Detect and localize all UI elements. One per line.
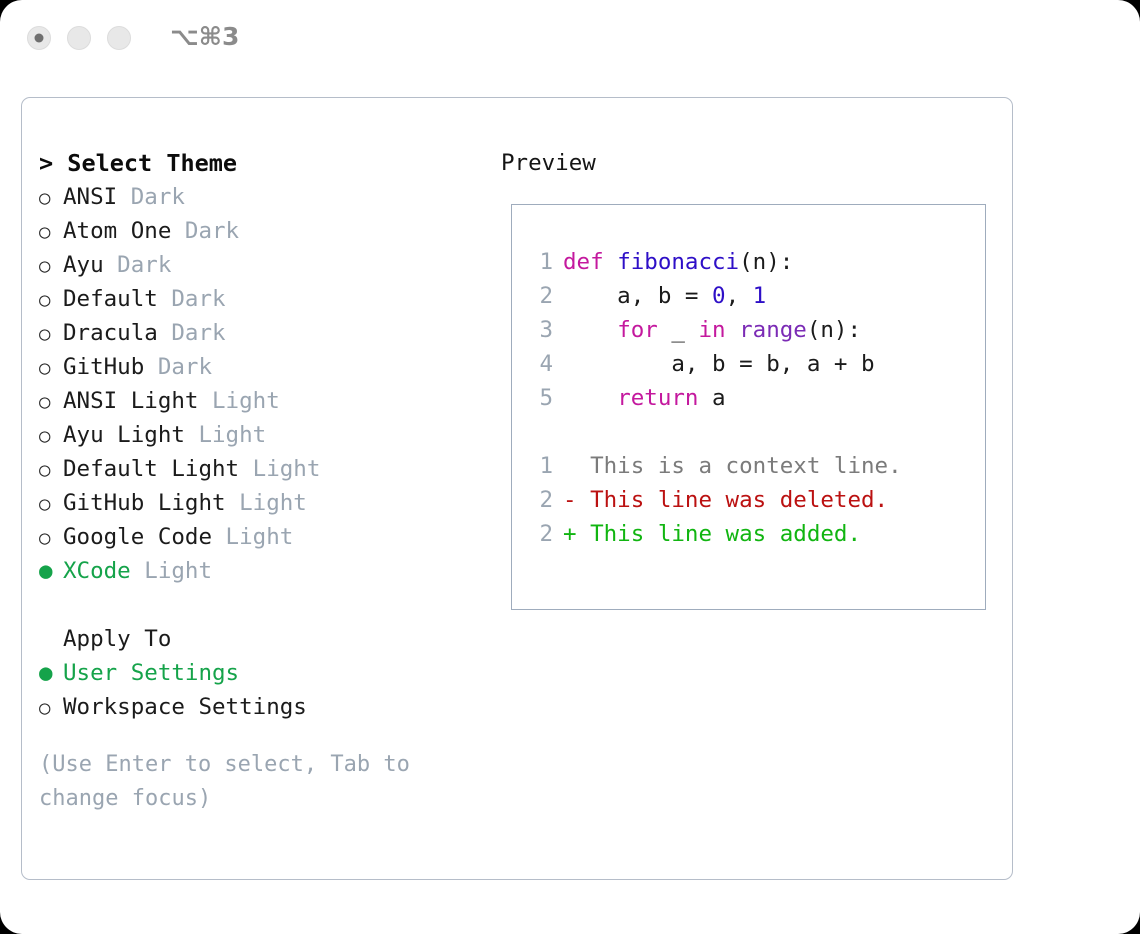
- code-token: a, b =: [563, 283, 712, 309]
- radio-unselected-icon[interactable]: ○: [39, 385, 63, 419]
- theme-name-label: Ayu Light: [63, 422, 185, 448]
- code-token: 1: [753, 283, 767, 309]
- apply-to-list: ●User Settings○Workspace Settings: [39, 656, 489, 724]
- theme-name-label: Default Light: [63, 456, 239, 482]
- radio-unselected-icon[interactable]: ○: [39, 283, 63, 317]
- theme-name-label: ANSI Light: [63, 388, 198, 414]
- radio-unselected-icon[interactable]: ○: [39, 317, 63, 351]
- line-number: 1: [523, 449, 553, 483]
- theme-name-label: Google Code: [63, 524, 212, 550]
- theme-option-row[interactable]: ○Default Light Light: [39, 452, 489, 486]
- theme-variant-badge: Dark: [171, 218, 239, 244]
- code-token: return: [617, 385, 698, 411]
- theme-variant-badge: Dark: [158, 286, 226, 312]
- code-token: [563, 385, 617, 411]
- line-number: 2: [523, 483, 553, 517]
- code-token: ,: [726, 283, 753, 309]
- code-line: 1def fibonacci(n):: [523, 245, 902, 279]
- code-token: (n):: [739, 249, 793, 275]
- apply-to-option-row[interactable]: ●User Settings: [39, 656, 489, 690]
- theme-selector-column: > Select Theme ○ANSI Dark○Atom One Dark○…: [39, 146, 489, 816]
- code-token: [726, 317, 740, 343]
- theme-variant-badge: Light: [239, 456, 320, 482]
- line-number: 5: [523, 381, 553, 415]
- apply-to-option-label: Workspace Settings: [63, 694, 307, 720]
- code-token: range: [739, 317, 807, 343]
- radio-unselected-icon[interactable]: ○: [39, 351, 63, 385]
- window-dot-icon[interactable]: [107, 26, 131, 50]
- preview-title: Preview: [501, 146, 1001, 180]
- code-token: (n):: [807, 317, 861, 343]
- theme-name-label: GitHub: [63, 354, 144, 380]
- code-blank-line: [523, 415, 902, 449]
- theme-option-row[interactable]: ○GitHub Light Light: [39, 486, 489, 520]
- code-line: 2 a, b = 0, 1: [523, 279, 902, 313]
- window-dot-active-icon[interactable]: [27, 26, 51, 50]
- radio-selected-icon[interactable]: ●: [39, 656, 63, 690]
- line-number: 1: [523, 245, 553, 279]
- line-number: 3: [523, 313, 553, 347]
- radio-unselected-icon[interactable]: ○: [39, 215, 63, 249]
- theme-variant-badge: Dark: [117, 184, 185, 210]
- keyboard-shortcut-label: ⌥⌘3: [170, 22, 239, 51]
- apply-to-header: ○Apply To: [39, 622, 489, 656]
- code-token: _: [658, 317, 699, 343]
- diff-line-text: This is a context line.: [563, 453, 902, 479]
- diff-line-text: - This line was deleted.: [563, 487, 888, 513]
- radio-unselected-icon[interactable]: ○: [39, 419, 63, 453]
- theme-name-label: Dracula: [63, 320, 158, 346]
- theme-variant-badge: Dark: [104, 252, 172, 278]
- code-token: for: [617, 317, 658, 343]
- diff-line: 2+ This line was added.: [523, 517, 902, 551]
- theme-variant-badge: Light: [212, 524, 293, 550]
- code-token: [563, 317, 617, 343]
- theme-list: ○ANSI Dark○Atom One Dark○Ayu Dark○Defaul…: [39, 180, 489, 588]
- code-token: 0: [712, 283, 726, 309]
- preview-column: Preview 1def fibonacci(n):2 a, b = 0, 13…: [501, 146, 1001, 180]
- theme-name-label: ANSI: [63, 184, 117, 210]
- theme-option-row[interactable]: ○ANSI Light Light: [39, 384, 489, 418]
- code-token: def: [563, 249, 617, 275]
- preview-box: 1def fibonacci(n):2 a, b = 0, 13 for _ i…: [511, 204, 986, 610]
- theme-variant-badge: Light: [131, 558, 212, 584]
- terminal-window: ⌥⌘3 > Select Theme ○ANSI Dark○Atom One D…: [0, 0, 1140, 934]
- theme-option-row[interactable]: ○Ayu Light Light: [39, 418, 489, 452]
- window-dot-active-inner: [35, 34, 44, 43]
- theme-variant-badge: Light: [198, 388, 279, 414]
- apply-to-marker-placeholder: ○: [39, 622, 63, 656]
- theme-name-label: Ayu: [63, 252, 104, 278]
- code-preview: 1def fibonacci(n):2 a, b = 0, 13 for _ i…: [523, 245, 902, 551]
- theme-option-row[interactable]: ○Dracula Dark: [39, 316, 489, 350]
- line-number: 2: [523, 279, 553, 313]
- theme-name-label: XCode: [63, 558, 131, 584]
- radio-unselected-icon[interactable]: ○: [39, 691, 63, 725]
- theme-option-row[interactable]: ○Google Code Light: [39, 520, 489, 554]
- content-panel: > Select Theme ○ANSI Dark○Atom One Dark○…: [21, 97, 1013, 880]
- diff-line: 2- This line was deleted.: [523, 483, 902, 517]
- code-token: in: [698, 317, 725, 343]
- theme-option-row[interactable]: ○GitHub Dark: [39, 350, 489, 384]
- apply-to-option-label: User Settings: [63, 660, 239, 686]
- theme-variant-badge: Dark: [158, 320, 226, 346]
- radio-unselected-icon[interactable]: ○: [39, 487, 63, 521]
- code-line: 4 a, b = b, a + b: [523, 347, 902, 381]
- line-number: 4: [523, 347, 553, 381]
- theme-name-label: Atom One: [63, 218, 171, 244]
- radio-unselected-icon[interactable]: ○: [39, 453, 63, 487]
- code-token: a: [698, 385, 725, 411]
- theme-option-row[interactable]: ○Ayu Dark: [39, 248, 489, 282]
- line-number: 2: [523, 517, 553, 551]
- list-spacer: [39, 588, 489, 622]
- diff-line-text: + This line was added.: [563, 521, 861, 547]
- theme-name-label: Default: [63, 286, 158, 312]
- window-titlebar: ⌥⌘3: [0, 0, 1140, 78]
- code-token: a, b = b, a + b: [563, 351, 875, 377]
- theme-option-row[interactable]: ○ANSI Dark: [39, 180, 489, 214]
- code-line: 5 return a: [523, 381, 902, 415]
- window-dot-icon[interactable]: [67, 26, 91, 50]
- radio-unselected-icon[interactable]: ○: [39, 521, 63, 555]
- code-line: 3 for _ in range(n):: [523, 313, 902, 347]
- select-theme-header: > Select Theme: [39, 146, 489, 180]
- theme-option-row[interactable]: ●XCode Light: [39, 554, 489, 588]
- radio-unselected-icon[interactable]: ○: [39, 249, 63, 283]
- theme-option-row[interactable]: ○Atom One Dark: [39, 214, 489, 248]
- code-token: fibonacci: [617, 249, 739, 275]
- theme-option-row[interactable]: ○Default Dark: [39, 282, 489, 316]
- diff-line: 1 This is a context line.: [523, 449, 902, 483]
- theme-name-label: GitHub Light: [63, 490, 226, 516]
- theme-variant-badge: Light: [185, 422, 266, 448]
- keyboard-hint-text: (Use Enter to select, Tab to change focu…: [39, 748, 449, 816]
- radio-selected-icon[interactable]: ●: [39, 554, 63, 588]
- theme-variant-badge: Dark: [144, 354, 212, 380]
- apply-to-option-row[interactable]: ○Workspace Settings: [39, 690, 489, 724]
- theme-variant-badge: Light: [226, 490, 307, 516]
- radio-unselected-icon[interactable]: ○: [39, 181, 63, 215]
